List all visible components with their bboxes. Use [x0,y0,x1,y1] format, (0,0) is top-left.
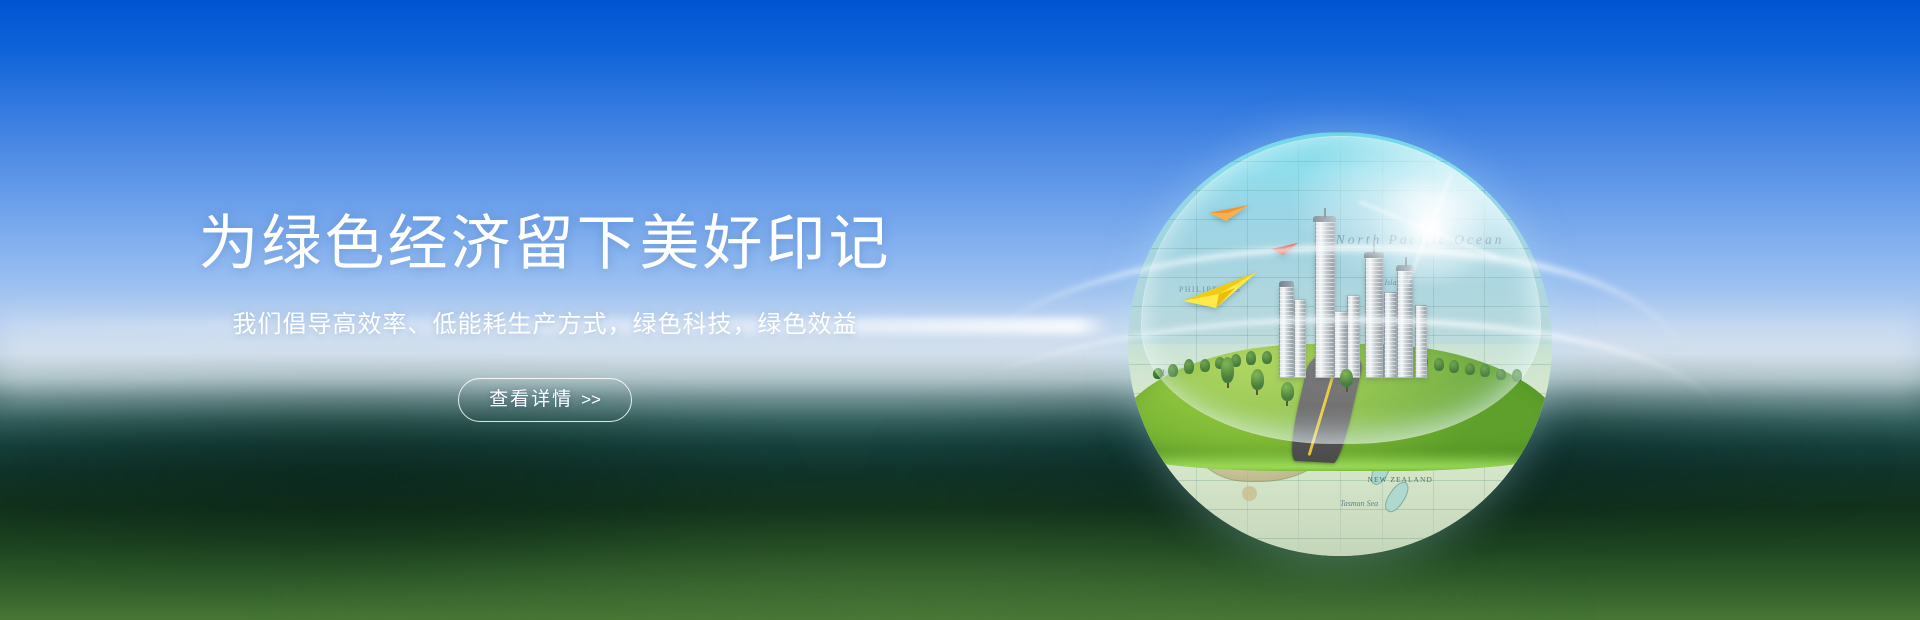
view-details-label: 查看详情 [489,389,573,410]
hero-banner: North Pacific Ocean OCEANIA AUSTRALIA NE… [0,0,1920,620]
foreground-tree-2 [1251,369,1264,395]
page-subtitle: 我们倡导高效率、低能耗生产方式，绿色科技，绿色效益 [0,309,1090,340]
skyscraper-3 [1315,221,1335,378]
globe-sphere: North Pacific Ocean OCEANIA AUSTRALIA NE… [1128,132,1552,556]
foreground-tree-1 [1221,357,1234,388]
skyscraper-5 [1347,295,1360,378]
eco-globe-illustration: North Pacific Ocean OCEANIA AUSTRALIA NE… [1128,132,1552,556]
skyscraper-1 [1279,286,1293,378]
red-paper-plane [1272,242,1298,260]
cta-container: 查看详情>> [0,378,1090,422]
tasmania-landmass [1242,486,1256,501]
chevron-right-icon: >> [581,390,601,409]
skyscraper-8 [1397,270,1413,378]
view-details-button[interactable]: 查看详情>> [458,378,632,422]
skyscraper-6 [1365,257,1383,378]
skyscraper-7 [1384,292,1397,378]
city-skyline [1272,217,1450,378]
skyscraper-2 [1294,299,1307,378]
hero-copy: 为绿色经济留下美好印记 我们倡导高效率、低能耗生产方式，绿色科技，绿色效益 查看… [0,210,1090,422]
foreground-tree-3 [1281,382,1294,406]
skyscraper-9 [1415,305,1428,378]
orange-paper-plane [1209,204,1249,227]
yellow-paper-plane [1183,272,1257,313]
page-title: 为绿色经济留下美好印记 [0,210,1090,277]
skyscraper-4 [1334,311,1347,377]
foreground-tree-4 [1340,369,1353,392]
